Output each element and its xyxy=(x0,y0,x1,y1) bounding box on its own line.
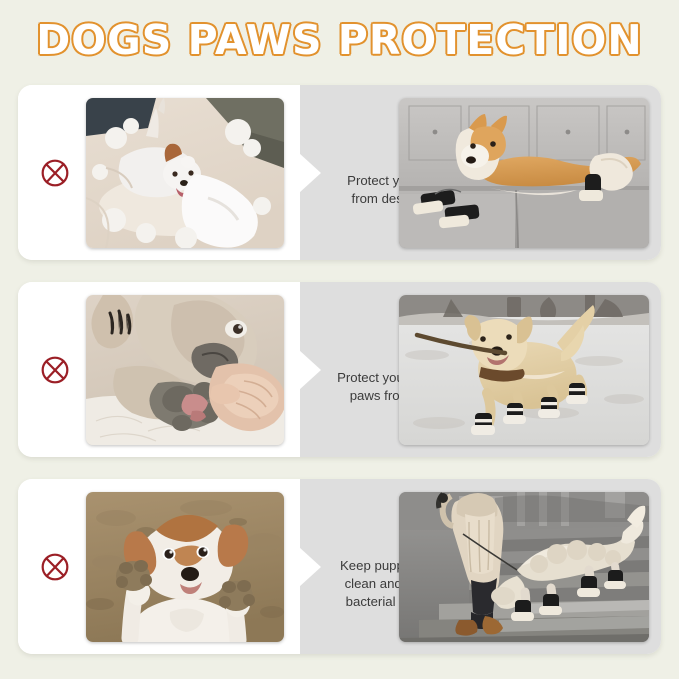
benefit-row-sofa: Protect your sofa from destroying xyxy=(18,85,661,260)
photo-poodle-stairs-with-boots xyxy=(399,492,649,642)
problem-panel xyxy=(18,85,300,260)
solution-panel: Keep puppy's paws clean and prevent bact… xyxy=(300,479,661,654)
problem-panel xyxy=(18,479,300,654)
benefit-row-clean-paws: Keep puppy's paws clean and prevent bact… xyxy=(18,479,661,654)
page-title: DOGS PAWS PROTECTION xyxy=(36,18,642,63)
solution-panel: Protect your sofa from destroying xyxy=(300,85,661,260)
x-circle-icon xyxy=(38,353,72,387)
header: DOGS PAWS PROTECTION xyxy=(0,18,679,63)
benefit-row-paws-harm: Protect your puppy's paws from harm xyxy=(18,282,661,457)
photo-shiba-on-couch-with-boots xyxy=(399,98,649,248)
arrow-right-icon xyxy=(299,350,321,390)
x-circle-icon xyxy=(38,550,72,584)
arrow-right-icon xyxy=(299,153,321,193)
photo-labrador-snow-with-boots xyxy=(399,295,649,445)
photo-muddy-paws-terrier xyxy=(86,492,284,642)
arrow-right-icon xyxy=(299,547,321,587)
problem-panel xyxy=(18,282,300,457)
x-circle-icon xyxy=(38,156,72,190)
photo-injured-dog-paw xyxy=(86,295,284,445)
solution-panel: Protect your puppy's paws from harm xyxy=(300,282,661,457)
photo-dog-destroyed-pillow xyxy=(86,98,284,248)
